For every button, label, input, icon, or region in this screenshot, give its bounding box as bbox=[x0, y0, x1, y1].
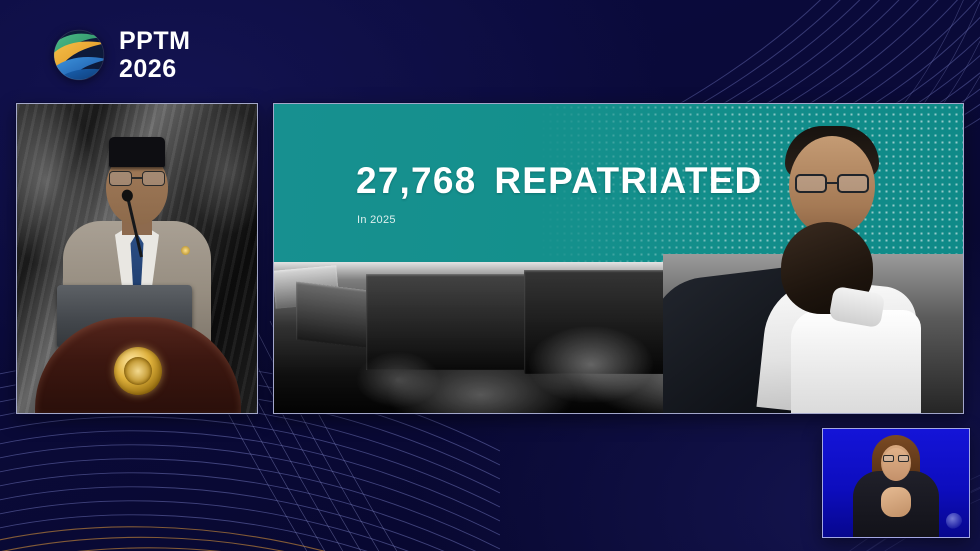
national-emblem-icon bbox=[114, 347, 162, 395]
interpreter-glasses-icon bbox=[883, 455, 909, 463]
slide-embrace-photo bbox=[663, 104, 963, 414]
presentation-slide[interactable]: 27,768REPATRIATED In 2025 bbox=[273, 103, 964, 414]
interpreter-face bbox=[883, 448, 910, 481]
slide-headline: 27,768REPATRIATED bbox=[356, 160, 762, 202]
watermark-icon bbox=[946, 513, 962, 529]
slide-headline-word: REPATRIATED bbox=[494, 160, 762, 201]
brand-name-line2: 2026 bbox=[119, 57, 190, 82]
speaker-glasses-icon bbox=[109, 171, 165, 187]
man-front-glasses-icon bbox=[795, 174, 869, 194]
brand-logo-text: PPTM 2026 bbox=[119, 29, 190, 82]
globe-swoosh-icon bbox=[52, 28, 106, 82]
speaker-lapel-pin-icon bbox=[181, 246, 190, 255]
man-white-shirt-body bbox=[791, 310, 921, 414]
songkok-cap bbox=[109, 137, 165, 167]
slide-headline-number: 27,768 bbox=[356, 160, 476, 201]
sign-language-interpreter-feed[interactable] bbox=[822, 428, 970, 538]
brand-name-line1: PPTM bbox=[119, 27, 190, 55]
brand-logo: PPTM 2026 bbox=[52, 28, 190, 82]
slide-subline: In 2025 bbox=[357, 214, 396, 226]
interpreter-hands bbox=[881, 487, 911, 517]
broadcast-stage: PPTM 2026 bbox=[0, 0, 980, 551]
speaker-video-feed[interactable] bbox=[16, 103, 258, 414]
